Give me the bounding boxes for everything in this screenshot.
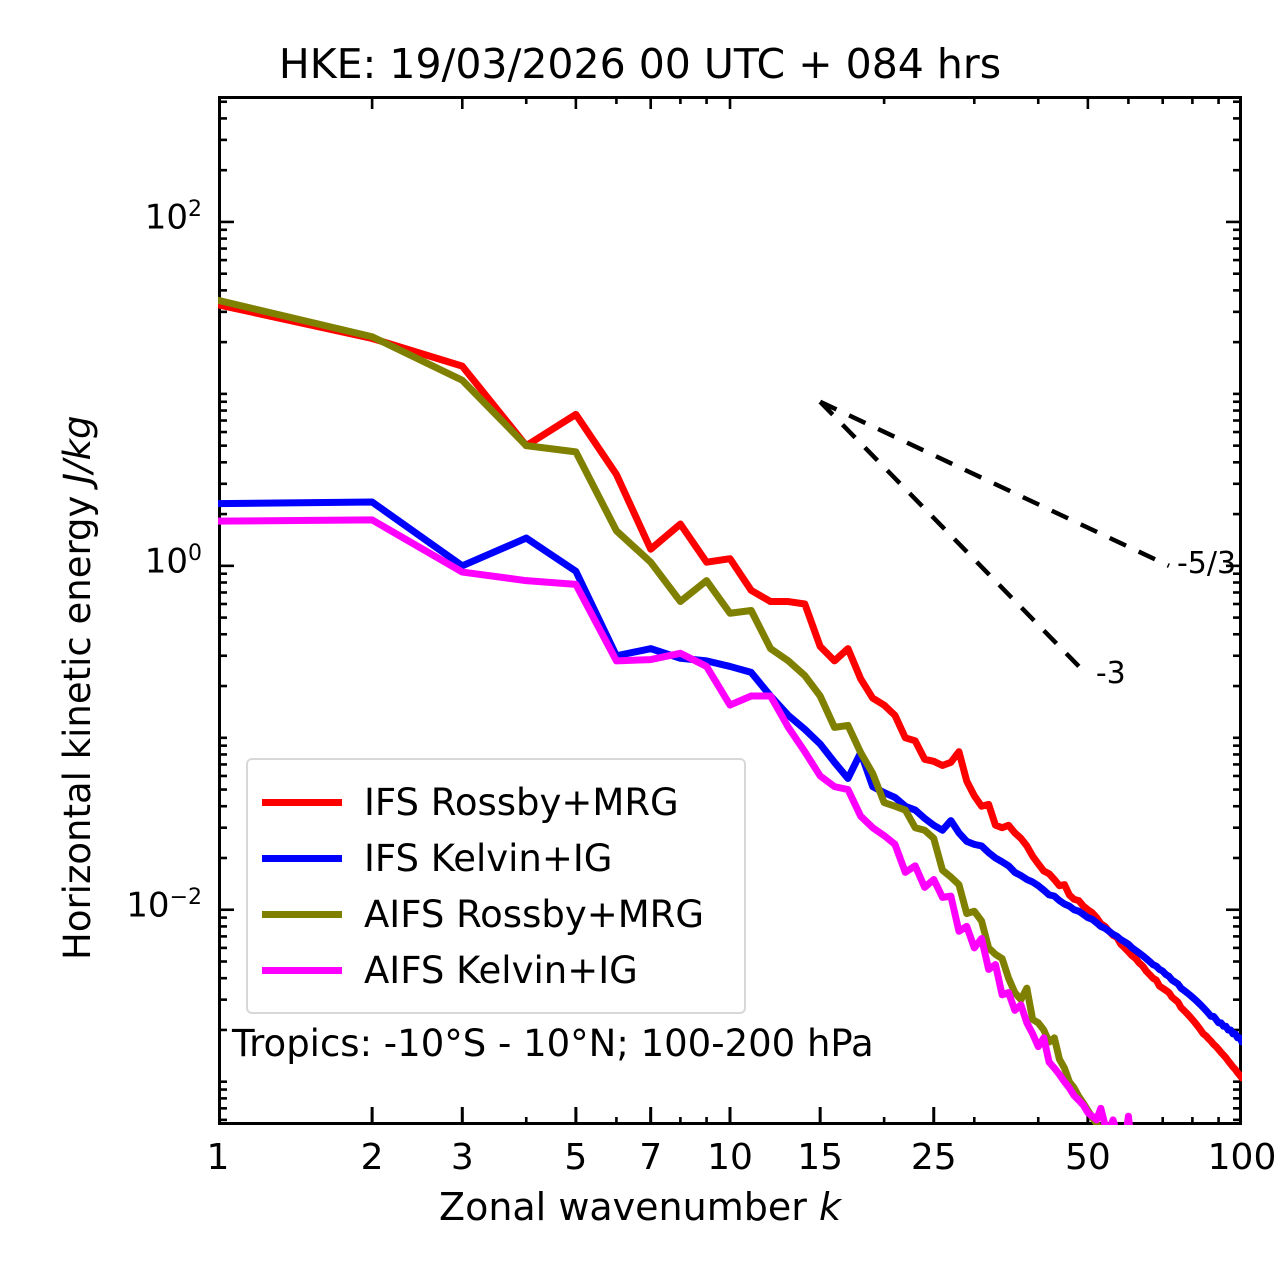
legend-item[interactable]: IFS Kelvin+IG [262,830,726,886]
y-tick-label-1: 100 [20,541,202,581]
y-tick-label-0: 102 [20,197,202,237]
y-axis-label: Horizontal kinetic energy J/kg [56,416,99,960]
legend-item[interactable]: IFS Rossby+MRG [262,774,726,830]
legend-label: IFS Rossby+MRG [364,781,679,824]
slope-5-3-label: -5/3 [1177,546,1236,581]
x-tick-label-0: 1 [158,1137,278,1178]
x-axis-label-text: Zonal wavenumber [439,1185,819,1229]
x-tick-label-7: 25 [874,1137,994,1178]
legend-swatch-icon [262,855,342,862]
y-tick-label-2: 10−2 [20,885,202,925]
legend-item[interactable]: AIFS Rossby+MRG [262,886,726,942]
legend-swatch-icon [262,967,342,974]
chart-root: HKE: 19/03/2026 00 UTC + 084 hrs 1021001… [0,0,1280,1288]
y-axis-label-text: Horizontal kinetic energy [56,484,99,960]
legend-swatch-icon [262,911,342,918]
x-tick-label-2: 3 [402,1137,522,1178]
legend-label: AIFS Rossby+MRG [364,893,704,936]
region-note: Tropics: -10°S - 10°N; 100-200 hPa [232,1022,874,1065]
chart-legend: IFS Rossby+MRGIFS Kelvin+IGAIFS Rossby+M… [246,758,746,1014]
legend-label: IFS Kelvin+IG [364,837,612,880]
x-axis-label: Zonal wavenumber k [0,1185,1280,1229]
x-tick-label-8: 50 [1028,1137,1148,1178]
x-tick-label-6: 15 [760,1137,880,1178]
chart-title: HKE: 19/03/2026 00 UTC + 084 hrs [0,40,1280,88]
legend-swatch-icon [262,799,342,806]
y-axis-label-unit: J/kg [56,416,99,484]
x-tick-label-9: 100 [1182,1137,1280,1178]
legend-label: AIFS Kelvin+IG [364,949,638,992]
legend-item[interactable]: AIFS Kelvin+IG [262,942,726,998]
slope-3-label: -3 [1096,656,1126,691]
x-axis-label-var: k [819,1185,841,1229]
